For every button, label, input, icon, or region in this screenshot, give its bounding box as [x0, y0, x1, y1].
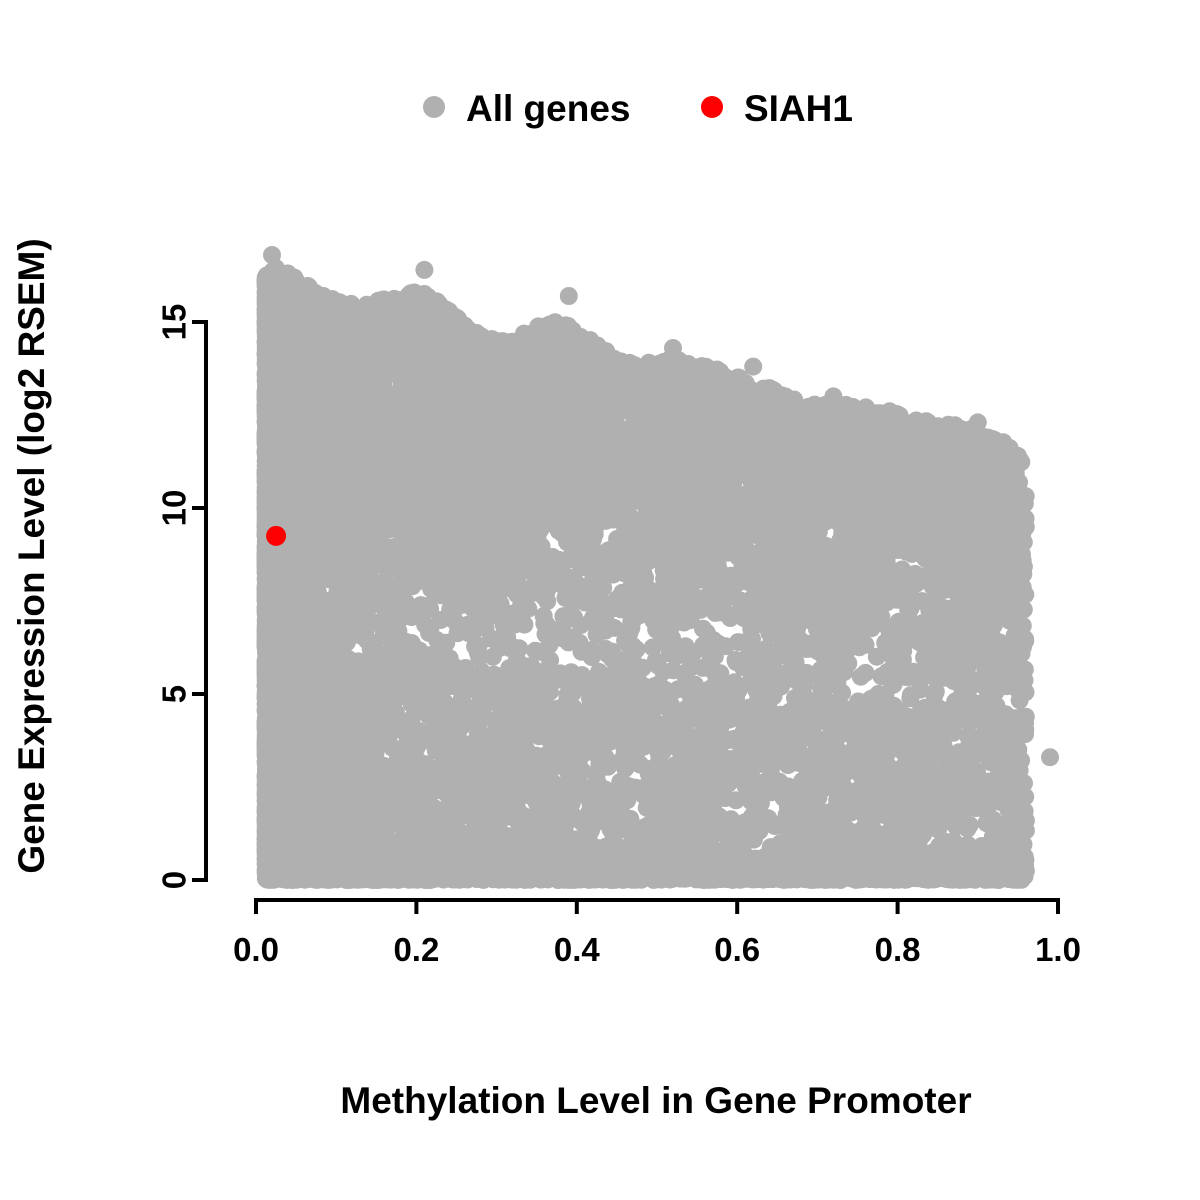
- plot-canvas: 0.00.20.40.60.81.0 051015 Methylation Le…: [0, 0, 1200, 1200]
- series-all-genes-points: [257, 246, 1059, 889]
- scatter-plot-figure: 0.00.20.40.60.81.0 051015 Methylation Le…: [0, 0, 1200, 1200]
